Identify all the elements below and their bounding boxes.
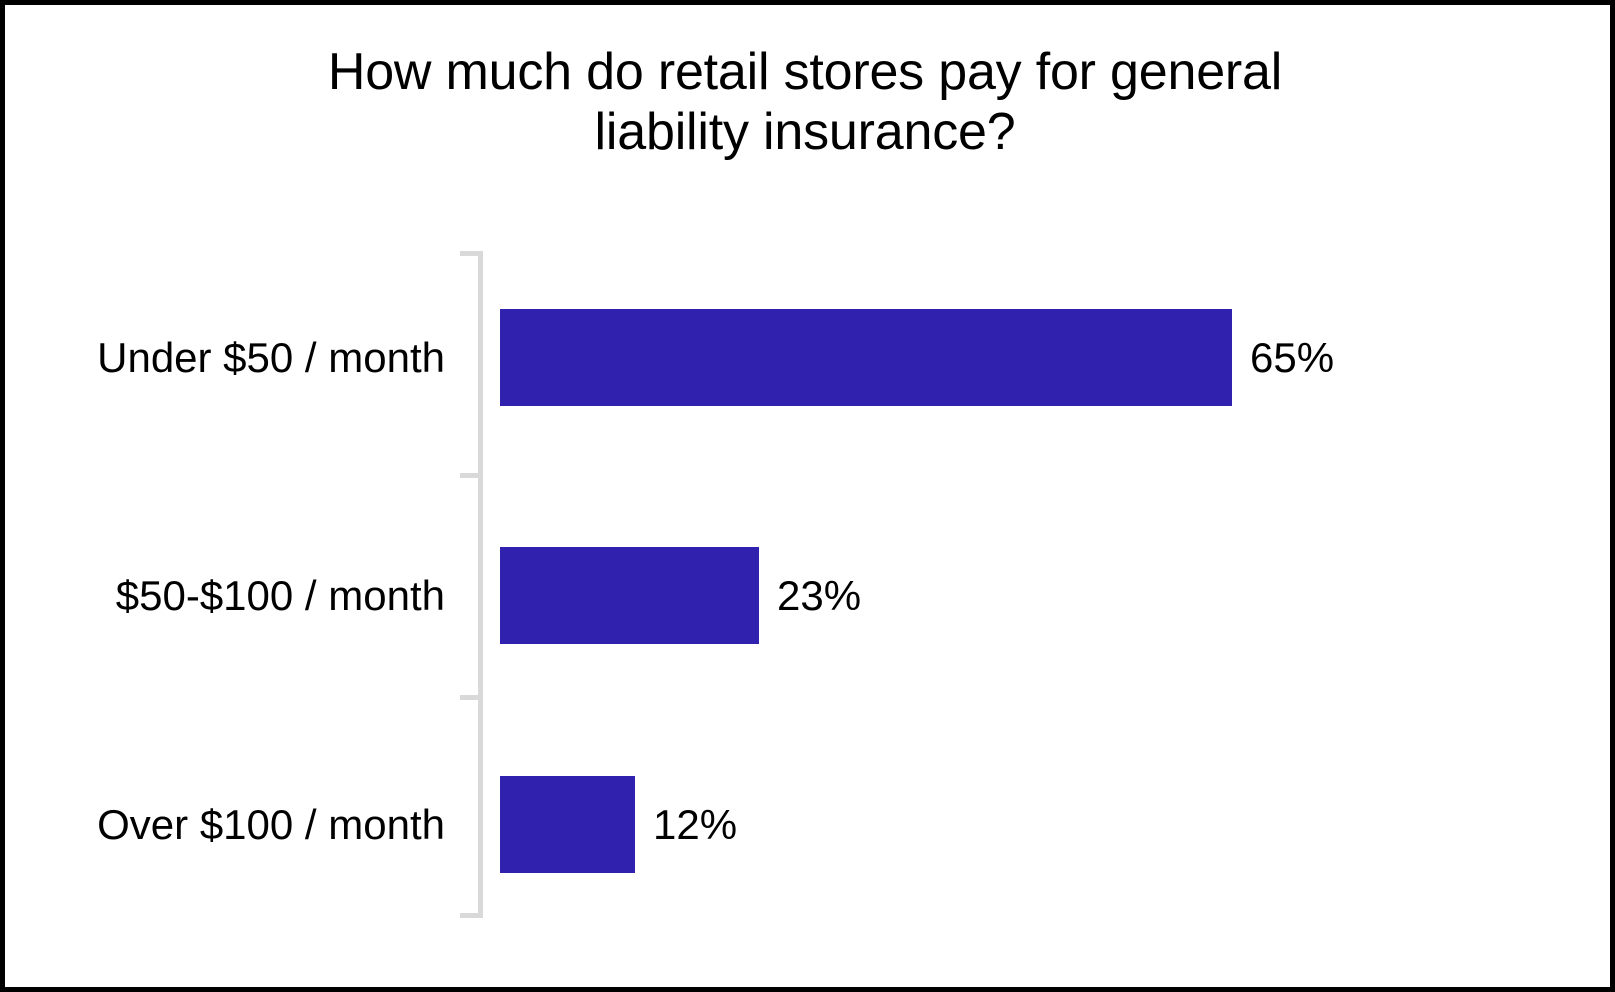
- axis-tick-3: [460, 913, 479, 918]
- category-label-0: Under $50 / month: [5, 309, 445, 406]
- value-label-1: 23%: [777, 547, 861, 644]
- axis-tick-2: [460, 695, 479, 700]
- bar-row: $50-$100 / month 23%: [5, 547, 1610, 644]
- value-label-0: 65%: [1250, 309, 1334, 406]
- plot-area: Under $50 / month 65% $50-$100 / month 2…: [5, 5, 1610, 987]
- category-label-2: Over $100 / month: [5, 776, 445, 873]
- axis-tick-1: [460, 473, 479, 478]
- bar-2[interactable]: [500, 776, 635, 873]
- value-label-2: 12%: [653, 776, 737, 873]
- bar-1[interactable]: [500, 547, 759, 644]
- bar-row: Over $100 / month 12%: [5, 776, 1610, 873]
- chart-figure: How much do retail stores pay for genera…: [0, 0, 1615, 992]
- bar-row: Under $50 / month 65%: [5, 309, 1610, 406]
- axis-tick-0: [460, 251, 479, 256]
- bar-0[interactable]: [500, 309, 1232, 406]
- category-label-1: $50-$100 / month: [5, 547, 445, 644]
